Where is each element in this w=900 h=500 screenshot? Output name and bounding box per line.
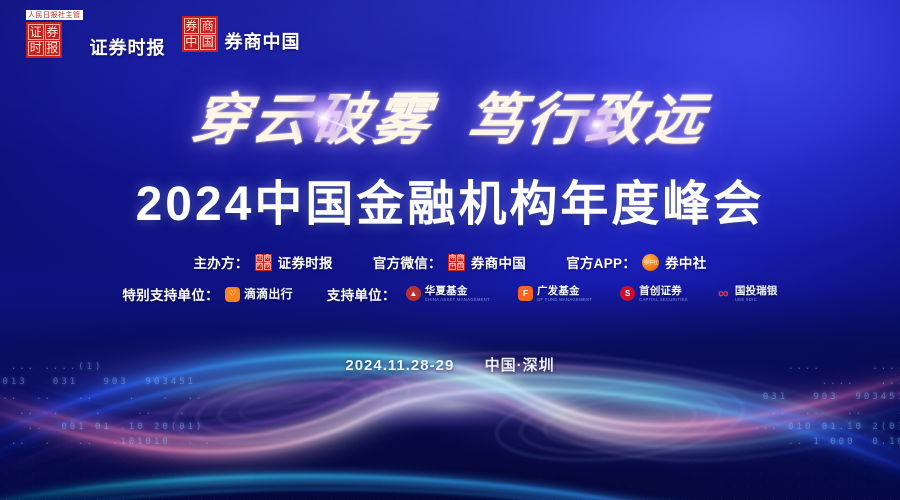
seal-char: 国 (457, 263, 465, 271)
brand-securities-times[interactable]: 人民日报社主管 证 券 时 报 证券时报 (26, 10, 166, 58)
seal-char: 时 (28, 41, 44, 57)
seal-char: 国 (200, 35, 216, 51)
huaxia-fund-logo-icon: ▲ (406, 286, 421, 301)
seal-char: 券 (45, 24, 61, 40)
credit-special-support[interactable]: 特别支持单位： ♡ 滴滴出行 (122, 284, 292, 304)
credit-organizer[interactable]: 主办方： 证 券 时 报 证券时报 (193, 252, 332, 272)
ubs-sdic-logo-icon: ∞ (716, 286, 731, 301)
app-circle-icon: 券中社 (642, 254, 659, 271)
credit-label: 支持单位： (327, 284, 396, 304)
seal-char: 中 (449, 263, 457, 271)
seal-char: 报 (45, 41, 61, 57)
page-title: 2024中国金融机构年度峰会 (0, 176, 900, 234)
brand-broker-china[interactable]: 券 商 中 国 券商中国 (182, 16, 301, 52)
decor-digits-left: ... ....(1) 9013 031 903 903451 .. .. ..… (0, 360, 324, 500)
credit-value: 证券时报 (278, 252, 333, 272)
sponsor-didi[interactable]: ♡ 滴滴出行 (225, 287, 293, 302)
credit-support-units: 支持单位： ▲ 华夏基金 CHINA ASSET MANAGEMENT F 广发… (327, 284, 778, 304)
credits-row-organizers: 主办方： 证 券 时 报 证券时报 官方微信： 券 商 中 国 券商中国 (193, 252, 706, 272)
credits-block: 主办方： 证 券 时 报 证券时报 官方微信： 券 商 中 国 券商中国 (0, 252, 900, 304)
peoples-daily-masthead-label: 人民日报社主管 (26, 10, 83, 20)
credits-row-sponsors: 特别支持单位： ♡ 滴滴出行 支持单位： ▲ 华夏基金 CHINA ASSET … (122, 284, 777, 304)
seal-char: 报 (264, 263, 272, 271)
seal-char: 商 (200, 18, 216, 34)
event-date: 2024.11.28-29 (345, 357, 454, 374)
header-brand-row: 人民日报社主管 证 券 时 报 证券时报 券 商 中 国 券商中国 (26, 10, 301, 58)
seal-char: 券 (449, 255, 457, 263)
seal-stamp-icon: 证 券 时 报 (255, 254, 272, 271)
seal-stamp-icon: 证 券 时 报 (26, 22, 62, 58)
sponsor-gf-fund[interactable]: F 广发基金 GF FUND MANAGEMENT (518, 286, 592, 302)
seal-char: 商 (457, 255, 465, 263)
credit-official-app[interactable]: 官方APP： 券中社 券中社 (566, 252, 706, 272)
seal-char: 证 (256, 255, 264, 263)
credit-value: 券中社 (665, 252, 706, 272)
credit-label: 特别支持单位： (122, 284, 219, 304)
sponsor-name-en: CAPITAL SECURITIES (639, 298, 688, 302)
calligraphy-slogan: 穿云破雾 笃行致远 (0, 92, 900, 148)
seal-char: 中 (184, 35, 200, 51)
calligraphy-line-b: 笃行致远 (463, 92, 712, 148)
credit-value: 券商中国 (471, 252, 526, 272)
sponsor-name-en: CHINA ASSET MANAGEMENT (425, 298, 490, 302)
sponsor-name: 滴滴出行 (244, 288, 293, 300)
sponsor-capital-securities[interactable]: S 首创证券 CAPITAL SECURITIES (620, 286, 688, 302)
gf-fund-logo-icon: F (518, 286, 533, 301)
seal-char: 券 (184, 18, 200, 34)
credit-label: 主办方： (193, 252, 248, 272)
brand-name-label: 券商中国 (225, 32, 301, 52)
credit-official-wechat[interactable]: 官方微信： 券 商 中 国 券商中国 (373, 252, 526, 272)
poster-canvas: ... ....(1) 9013 031 903 903451 .. .. ..… (0, 0, 900, 500)
sponsor-name-en: UBS SDIC (735, 298, 778, 302)
event-dateline: 2024.11.28-29 中国·深圳 (0, 354, 900, 375)
credit-label: 官方微信： (373, 252, 442, 272)
calligraphy-line-a: 穿云破雾 (189, 92, 438, 148)
capital-securities-logo-icon: S (620, 286, 635, 301)
sponsor-name: 国投瑞银 (735, 286, 778, 297)
brand-name-label: 证券时报 (90, 38, 166, 58)
seal-stamp-icon: 券 商 中 国 (182, 16, 218, 52)
seal-char: 券 (264, 255, 272, 263)
sponsor-name: 首创证券 (639, 286, 688, 297)
sponsor-name: 广发基金 (537, 286, 592, 297)
sponsor-ubs-sdic[interactable]: ∞ 国投瑞银 UBS SDIC (716, 286, 778, 302)
sponsor-huaxia-fund[interactable]: ▲ 华夏基金 CHINA ASSET MANAGEMENT (406, 286, 490, 302)
seal-char: 时 (256, 263, 264, 271)
didi-logo-icon: ♡ (225, 287, 240, 302)
event-location: 中国·深圳 (485, 357, 555, 374)
sponsor-name-en: GF FUND MANAGEMENT (537, 298, 592, 302)
sponsor-name: 华夏基金 (425, 286, 490, 297)
seal-stamp-icon: 券 商 中 国 (448, 254, 465, 271)
seal-char: 证 (28, 24, 44, 40)
decor-digits-right: .... .... .... ... 031 903 903451 .. .. … (576, 360, 900, 500)
credit-label: 官方APP： (566, 252, 636, 272)
